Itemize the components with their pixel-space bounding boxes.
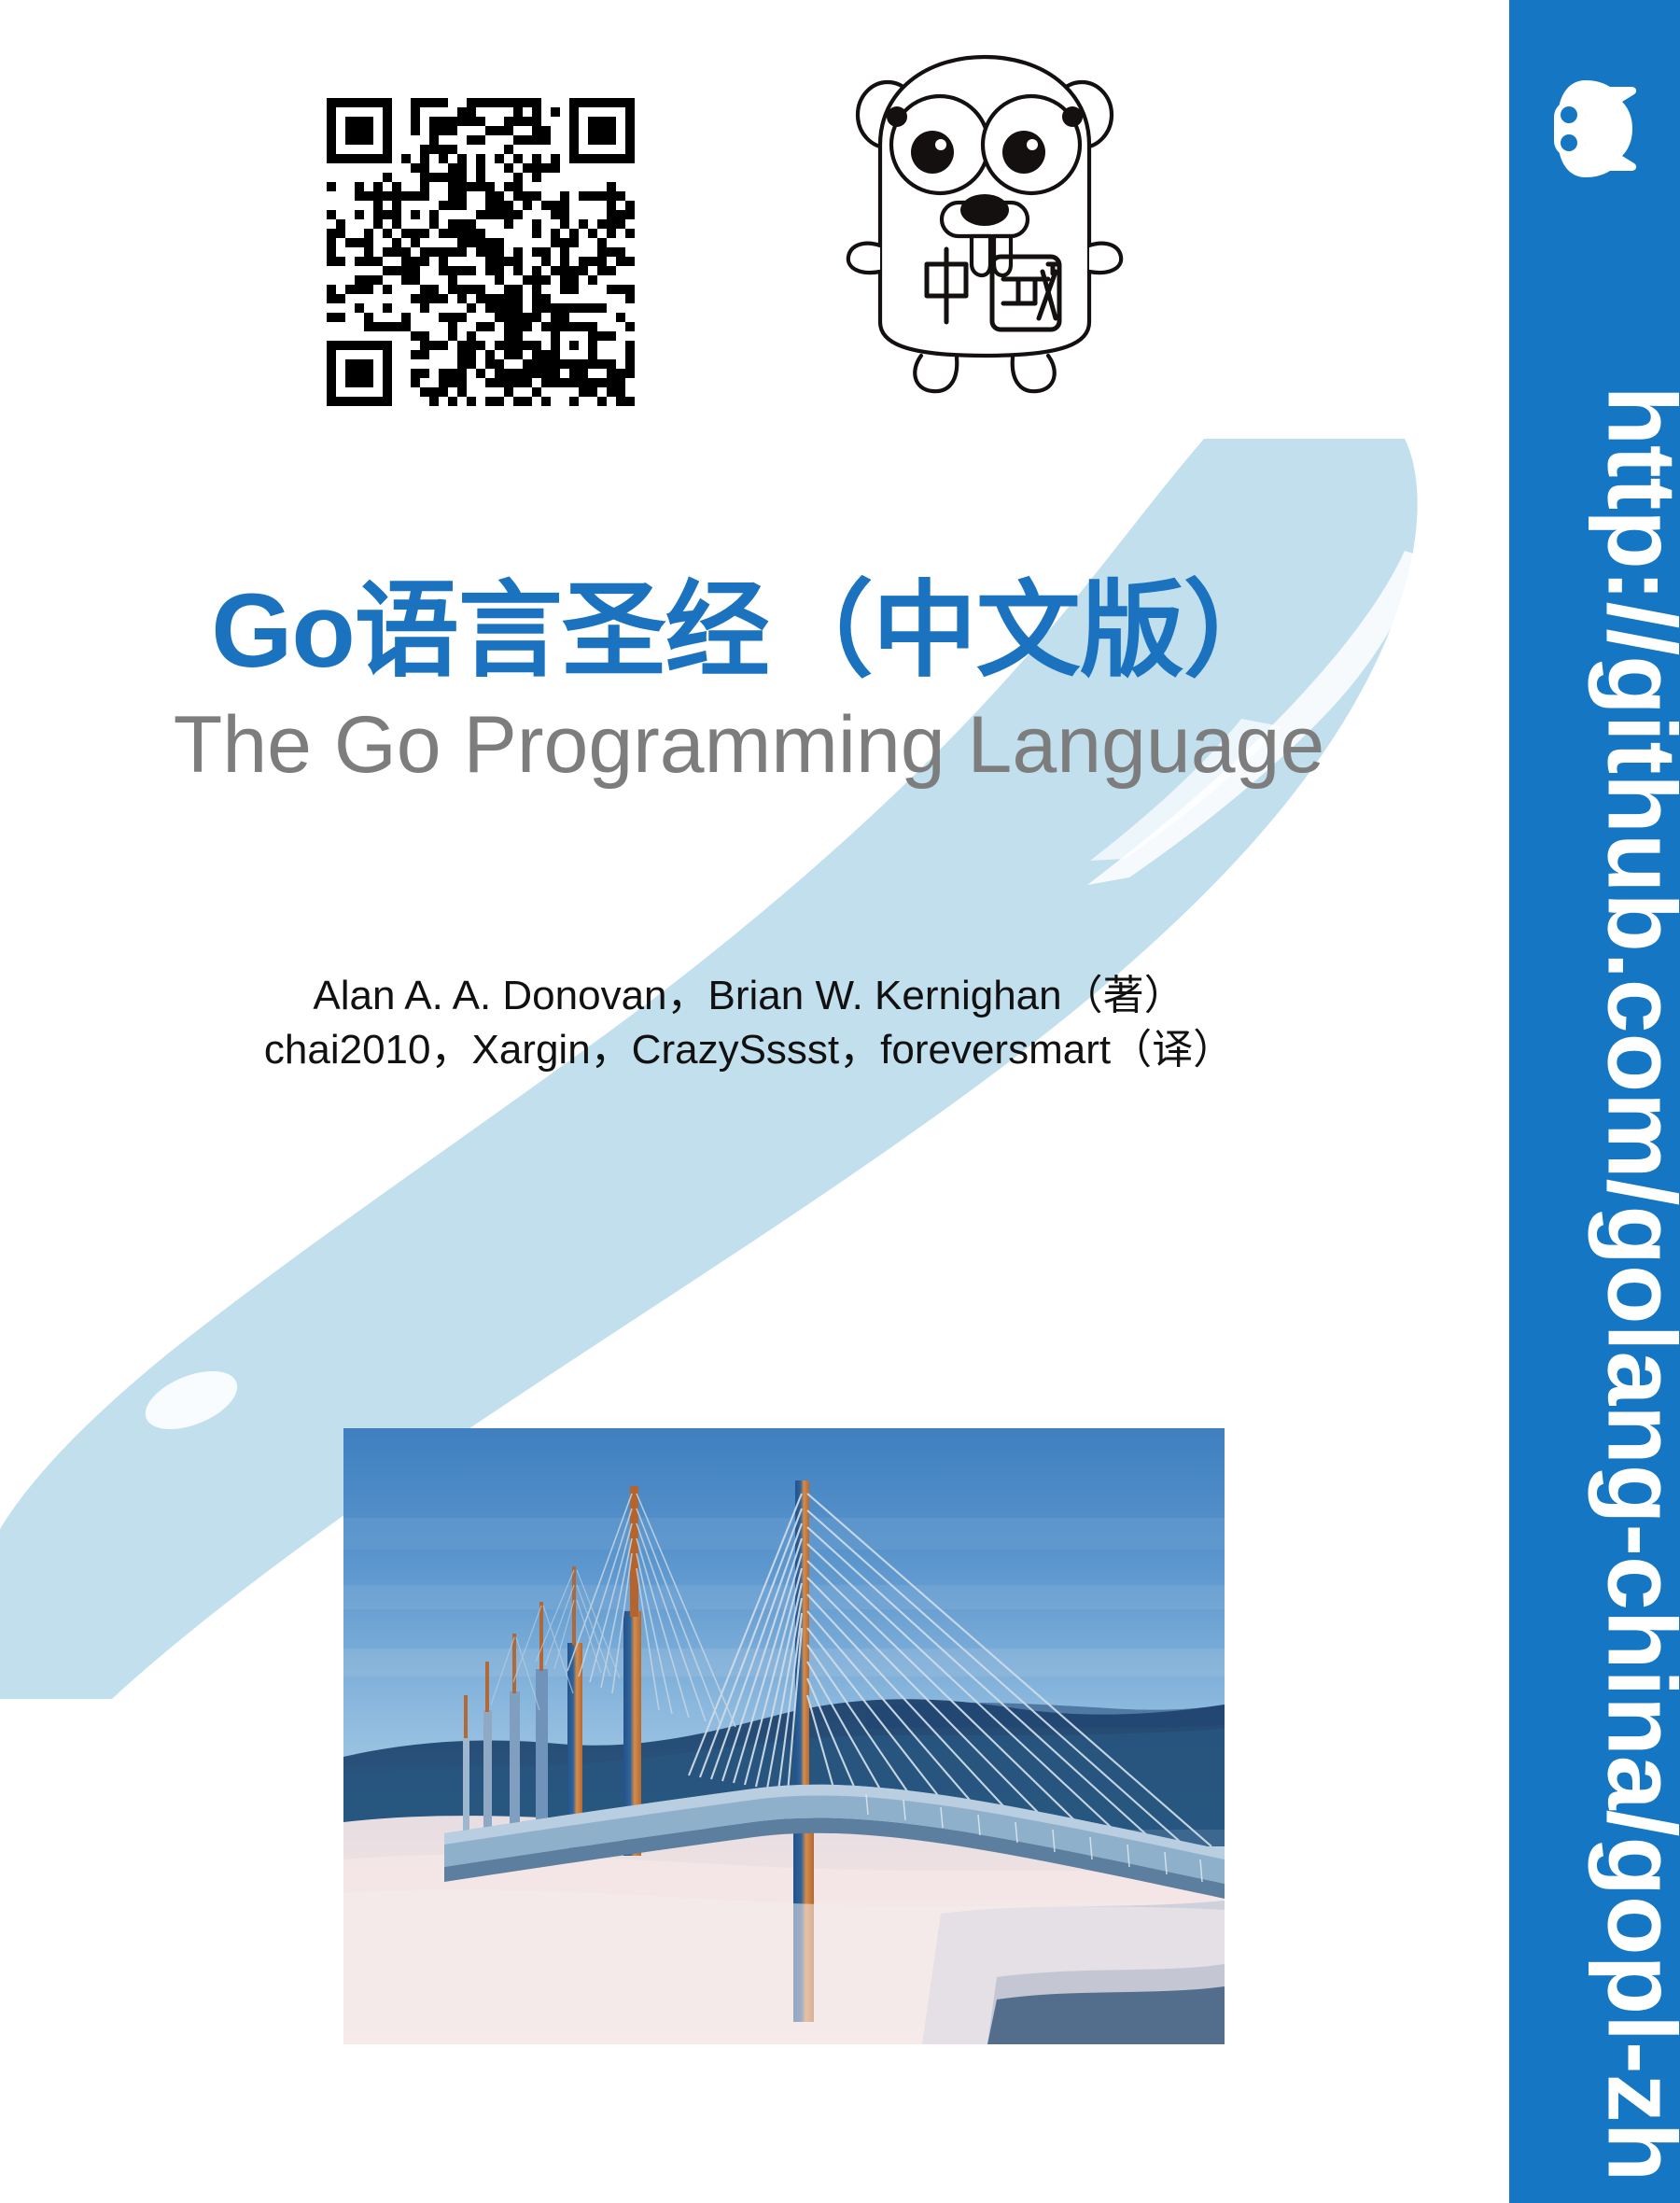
credit-authors: Alan A. A. Donovan，Brian W. Kernighan（著） (0, 969, 1498, 1023)
book-cover: Go语言圣经（中文版） The Go Programming Language … (0, 0, 1680, 2203)
millau-viaduct-bridge-illustration (343, 1428, 1225, 2044)
page-title: Go语言圣经（中文版） (0, 569, 1498, 693)
cover-artwork (343, 1428, 1225, 2044)
title-block: Go语言圣经（中文版） The Go Programming Language (0, 569, 1498, 793)
go-gopher-mascot-icon (835, 42, 1134, 443)
qr-code[interactable] (327, 98, 635, 406)
qr-code-canvas (327, 98, 635, 406)
credits-block: Alan A. A. Donovan，Brian W. Kernighan（著）… (0, 969, 1498, 1077)
credit-translators: chai2010，Xargin，CrazySssst，foreversmart（… (0, 1023, 1498, 1077)
spine-url-wrapper[interactable]: http://github.com/golang-china/gopl-zh (1556, 142, 1680, 2065)
spine-url-text: http://github.com/golang-china/gopl-zh (1586, 142, 1680, 2182)
spine-banner: http://github.com/golang-china/gopl-zh (1509, 0, 1680, 2203)
page-subtitle: The Go Programming Language (0, 698, 1498, 793)
